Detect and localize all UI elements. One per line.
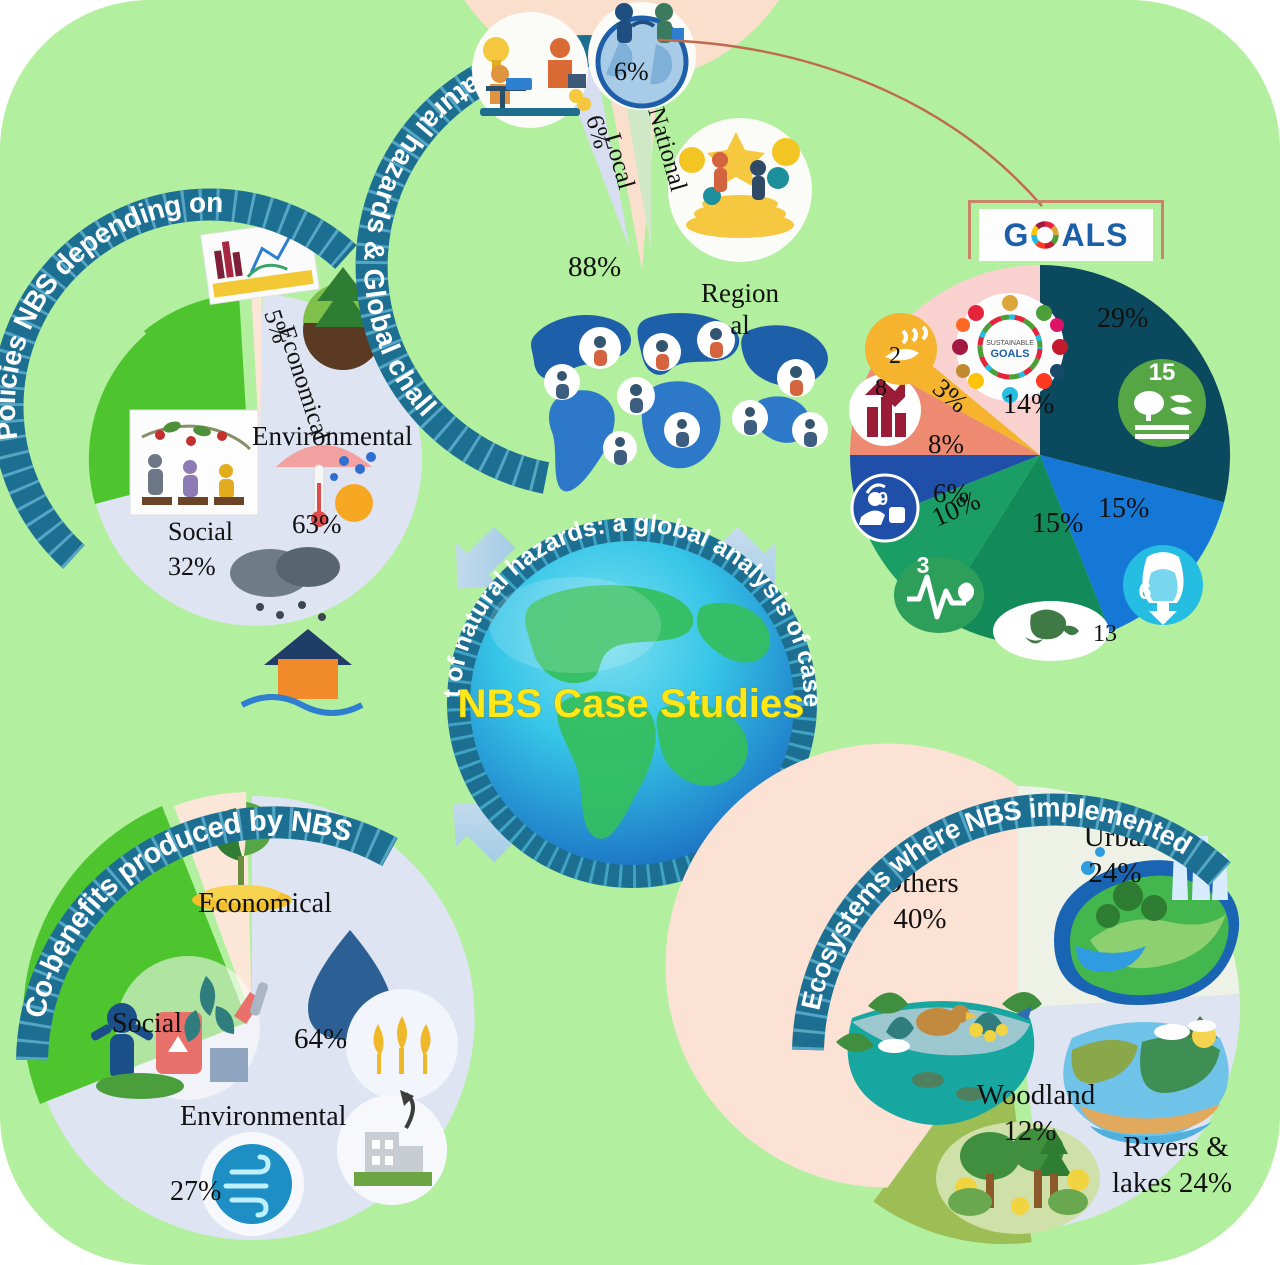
cobenefits-economical-label: Economical (198, 888, 332, 919)
hazards-regional-value: 88% (568, 251, 621, 283)
local-illustration (472, 12, 591, 128)
sdg-badge-8: 8 (849, 374, 921, 446)
sdg-badge-2-number: 2 (889, 343, 901, 369)
sdg-badge-2: 2 (865, 313, 937, 385)
panel-policies[interactable]: Policies NBS depending on Social 32% 5% … (50, 205, 470, 635)
sdg-badge-3-number: 3 (917, 552, 930, 578)
cobenefits-social-value: 27% (170, 1176, 221, 1207)
cobenefits-economical-value: 9% (228, 808, 264, 838)
ecosystems-others-label: Others (881, 867, 958, 899)
ecosystems-urban-label: Urban (1084, 821, 1157, 853)
sdgs-value-8: 8% (928, 429, 964, 459)
policies-social-value: 32% (168, 552, 216, 581)
hazards-regional-label-2: al (730, 310, 750, 340)
sdg-badge-15: 15 (1118, 359, 1206, 447)
sdgs-value-13: 15% (1032, 508, 1083, 539)
sdgs-value-9: 6% (933, 478, 969, 508)
graphical-abstract: NBS can help reduce the impact of natura… (0, 0, 1280, 1265)
ecosystems-rivers-value: lakes 24% (1112, 1167, 1232, 1199)
globe-highlight (489, 577, 661, 673)
sdgs-value-6: 15% (1098, 493, 1149, 524)
hazards-regional-label-1: Region (701, 278, 779, 308)
center-title: NBS Case Studies (458, 682, 805, 726)
ecosystems-others-value: 40% (893, 903, 946, 935)
ecosystems-rivers-label: Rivers & (1123, 1131, 1229, 1163)
cobenefits-environmental-value: 64% (294, 1023, 347, 1055)
goals-badge-text-right: ALS (1061, 217, 1128, 254)
economical-illustration (201, 220, 320, 305)
sdg-wheel-icon (1030, 220, 1060, 250)
policies-social-label: Social (168, 517, 233, 546)
panel-sdgs[interactable]: 15 6 13 3 9 8 (855, 255, 1255, 665)
sdg-badge-6-number: 6 (1139, 578, 1152, 604)
cobenefits-environmental-label: Environmental (180, 1101, 347, 1132)
panel-ecosystems[interactable]: Others 40% Urban 24% Woodland 12% Rivers… (790, 750, 1260, 1250)
goals-connector-line (658, 40, 1042, 206)
policies-environmental-label: Environmental (252, 421, 412, 451)
goals-badge-text-left: G (1004, 217, 1030, 254)
world-map-illustration (531, 313, 828, 491)
svg-text:GOALS: GOALS (990, 348, 1029, 360)
panel-cobenefits[interactable]: Social 27% 9% Economical 64% Environment… (20, 760, 490, 1250)
sdg-badge-6: 6 (1123, 545, 1203, 625)
social-illustration (130, 410, 258, 515)
sdg-badge-9: 9 (852, 475, 918, 541)
sdgs-value-all: 14% (1003, 389, 1054, 420)
policies-environmental-value: 63% (292, 509, 342, 539)
goals-connector (650, 10, 1070, 230)
ecosystems-urban-value: 24% (1088, 857, 1141, 889)
sdgs-value-15: 29% (1097, 303, 1148, 334)
cobenefits-social-label: Social (112, 1008, 182, 1039)
sdg-badge-9-number: 9 (878, 489, 888, 509)
sdg-badge-13-number: 13 (1093, 621, 1117, 647)
hazards-national-value: 6% (614, 57, 649, 86)
svg-text:SUSTAINABLE: SUSTAINABLE (986, 340, 1034, 347)
ecosystems-woodland-value: 12% (1003, 1115, 1056, 1147)
ecosystems-woodland-label: Woodland (977, 1079, 1096, 1111)
sdg-badge-15-number: 15 (1149, 359, 1176, 386)
goals-badge[interactable]: G ALS (968, 200, 1164, 259)
